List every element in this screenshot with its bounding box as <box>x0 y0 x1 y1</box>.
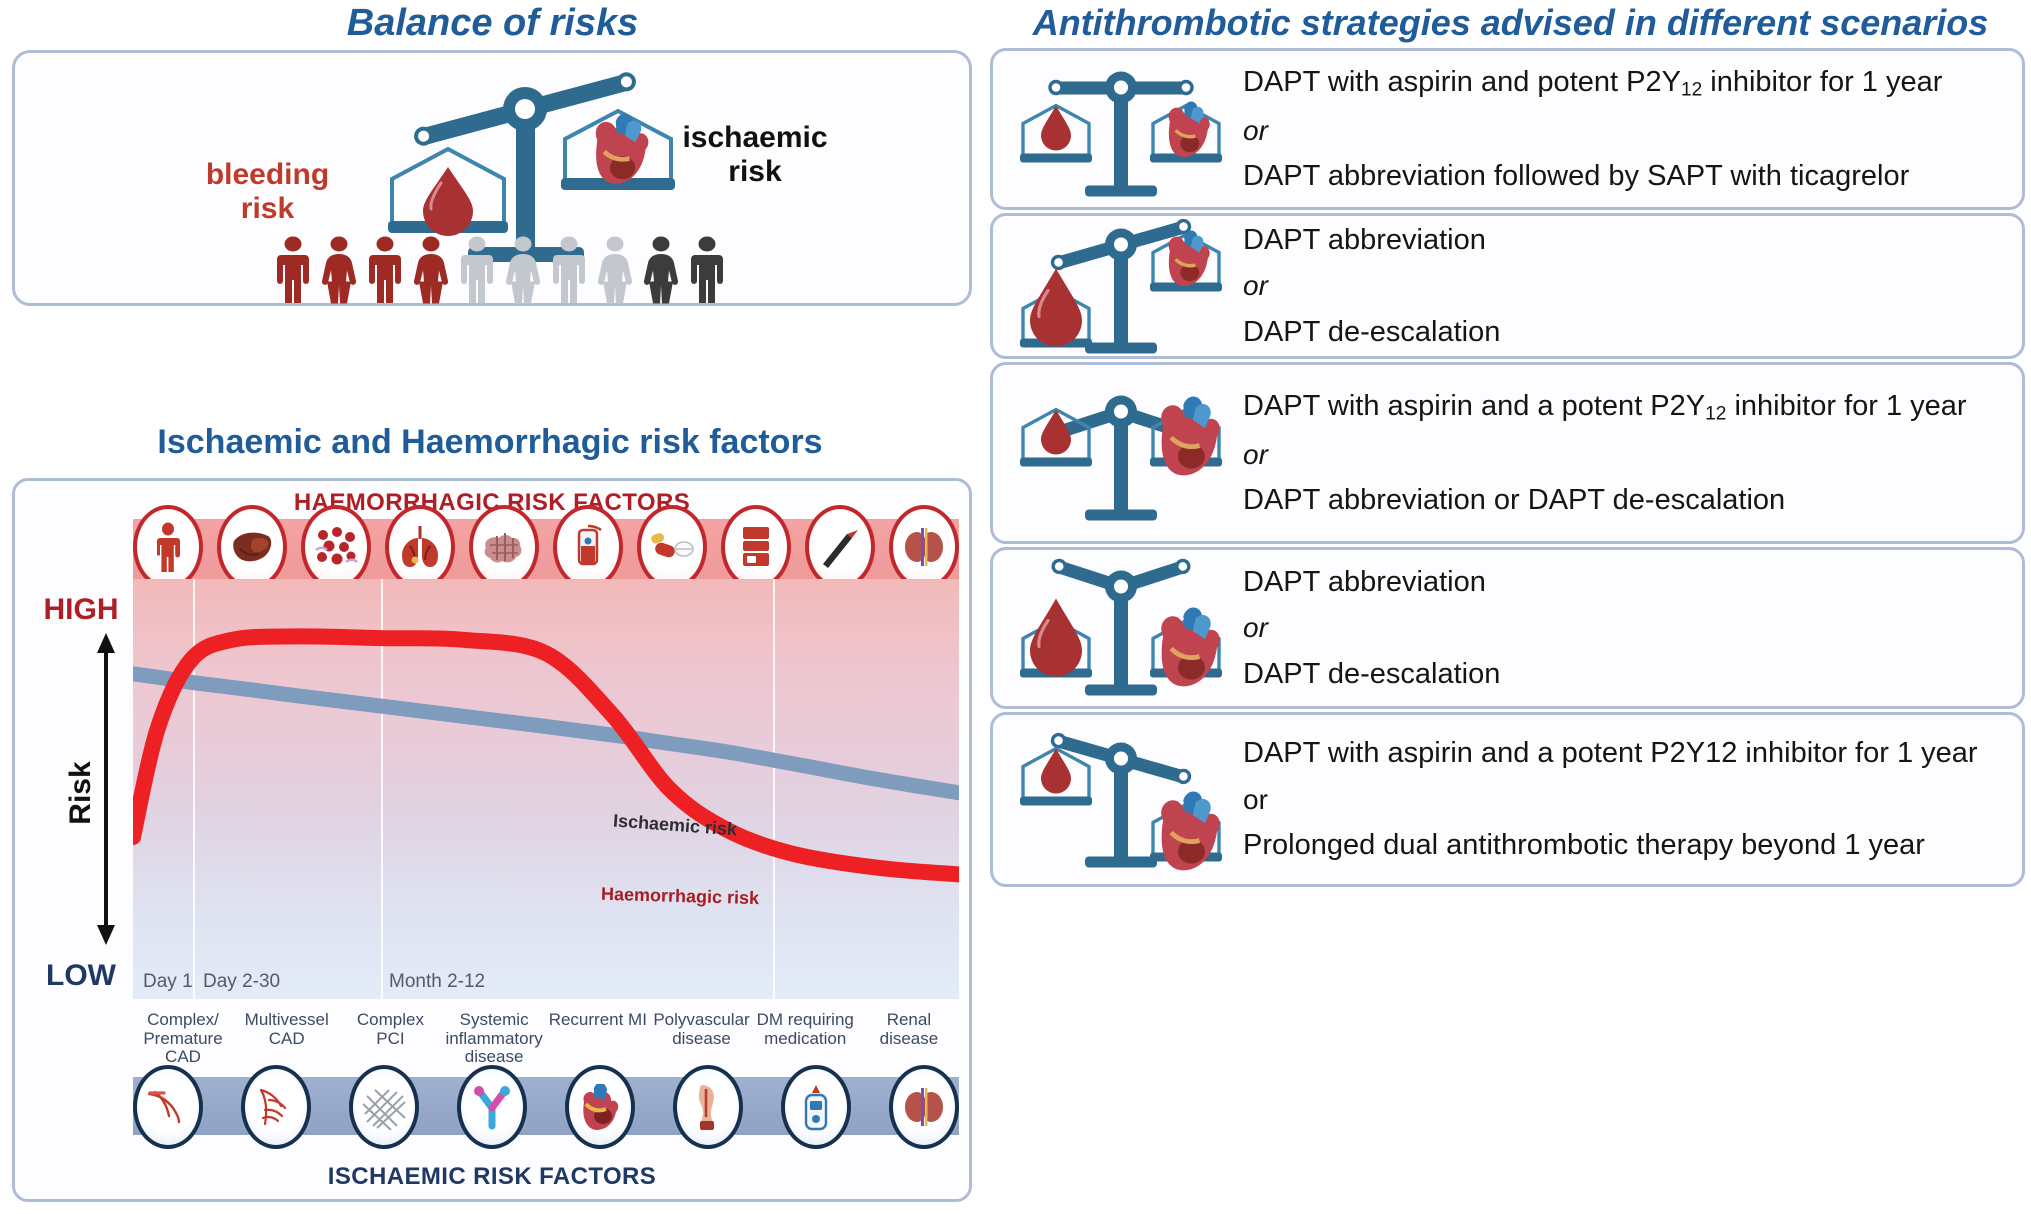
scenario-strategy-line: DAPT abbreviation <box>1243 224 2006 256</box>
scenario-strategy-line: DAPT with aspirin and potent P2Y12 inhib… <box>1243 66 2006 101</box>
pills-icon <box>637 505 707 589</box>
scenario-or-separator: or <box>1243 115 2006 146</box>
scenario-card-5[interactable]: DAPT with aspirin and a potent P2Y12 inh… <box>990 712 2025 887</box>
bleeding-risk-label: bleeding risk <box>185 158 350 225</box>
infographic-root: Balance of risks Antithrombotic strategi… <box>0 0 2031 1214</box>
pan-ischaemic <box>1150 101 1222 162</box>
pan-bleeding <box>388 149 508 236</box>
person-icon-female <box>502 235 544 305</box>
curve-label-haemorrhagic: Haemorrhagic risk <box>601 884 760 909</box>
risk-curves <box>133 579 959 999</box>
pan-ischaemic <box>1150 791 1222 870</box>
pan-bleeding <box>1020 106 1092 163</box>
stent-icon <box>349 1065 419 1149</box>
x-tick-day-2-30: Day 2-30 <box>203 971 280 993</box>
pan-bleeding <box>1020 410 1092 467</box>
risk-plot-area: Ischaemic risk Haemorrhagic risk Day 1 D… <box>133 579 959 999</box>
axis-label-high: HIGH <box>29 593 133 627</box>
person-icon-male <box>686 235 728 305</box>
scenario-or-separator: or <box>1243 612 2006 643</box>
axis-label-low: LOW <box>29 959 133 993</box>
balance-scale-icon <box>1013 376 1228 526</box>
scenario-card-2[interactable]: DAPT abbreviationorDAPT de-escalation <box>990 213 2025 359</box>
person-icon-female <box>318 235 360 305</box>
pan-bleeding <box>1020 748 1092 805</box>
scenario-strategy-line: DAPT de-escalation <box>1243 658 2006 690</box>
coronary-tree-icon <box>241 1065 311 1149</box>
scenario-or-separator: or <box>1243 270 2006 301</box>
ischaemic-risk-label: ischaemic risk <box>655 121 855 188</box>
scenario-strategy-line: DAPT with aspirin and a potent P2Y12 inh… <box>1243 737 2006 769</box>
kidney-icon <box>889 1065 959 1149</box>
scenario-card-3[interactable]: DAPT with aspirin and a potent P2Y12 inh… <box>990 362 2025 544</box>
lungs-icon <box>385 505 455 589</box>
scenario-text-block: DAPT with aspirin and potent P2Y12 inhib… <box>1243 51 2006 207</box>
scalpel-icon <box>805 505 875 589</box>
scenario-text-block: DAPT with aspirin and a potent P2Y12 inh… <box>1243 715 2006 884</box>
antibody-icon <box>457 1065 527 1149</box>
scenario-text-block: DAPT abbreviationorDAPT de-escalation <box>1243 550 2006 706</box>
scenario-balance-scale <box>1013 551 1228 706</box>
population-pictogram <box>260 235 740 305</box>
balance-scale-icon <box>1013 52 1228 202</box>
person-icon-male <box>272 235 314 305</box>
risk-chart-card: HAEMORRHAGIC RISK FACTORS AgeLiver disea… <box>12 478 972 1202</box>
axis-arrow-icon <box>95 633 117 945</box>
person-icon-female <box>640 235 682 305</box>
page-title-risk-factors: Ischaemic and Haemorrhagic risk factors <box>10 423 970 462</box>
x-tick-day-1: Day 1 <box>143 971 193 993</box>
coronary-artery-icon <box>133 1065 203 1149</box>
x-tick-month-2-12: Month 2-12 <box>389 971 485 993</box>
scenario-text-block: DAPT with aspirin and a potent P2Y12 inh… <box>1243 365 2006 541</box>
scenario-card-4[interactable]: DAPT abbreviationorDAPT de-escalation <box>990 547 2025 709</box>
person-icon-female <box>410 235 452 305</box>
blood-bag-icon <box>553 505 623 589</box>
scenario-balance-scale <box>1013 376 1228 531</box>
scenario-text-block: DAPT abbreviationorDAPT de-escalation <box>1243 216 2006 356</box>
balance-scale-icon <box>1013 722 1228 872</box>
scenario-or-separator: or <box>1243 439 2006 470</box>
scenario-or-separator: or <box>1243 784 2006 815</box>
person-icon-male <box>364 235 406 305</box>
scenario-strategy-line: DAPT abbreviation <box>1243 566 2006 598</box>
pan-ischaemic <box>1150 608 1222 687</box>
risk-axis: HIGH LOW Risk <box>29 593 133 993</box>
person-icon-male <box>456 235 498 305</box>
pan-ischaemic <box>1150 397 1222 476</box>
scenario-strategy-line: DAPT de-escalation <box>1243 316 2006 348</box>
scenario-strategy-line: Prolonged dual antithrombotic therapy be… <box>1243 829 2006 861</box>
body-icon <box>133 505 203 589</box>
blood-cells-icon <box>301 505 371 589</box>
liver-icon <box>217 505 287 589</box>
page-title-antithrombotic-strategies: Antithrombotic strategies advised in dif… <box>990 2 2031 44</box>
kidney-icon <box>889 505 959 589</box>
pan-bleeding <box>1020 269 1092 348</box>
peripheral-artery-icon <box>673 1065 743 1149</box>
scenario-strategy-line: DAPT abbreviation or DAPT de-escalation <box>1243 484 2006 516</box>
person-icon-female <box>594 235 636 305</box>
scenario-balance-scale <box>1013 209 1228 364</box>
brain-icon <box>469 505 539 589</box>
scenario-card-1[interactable]: DAPT with aspirin and potent P2Y12 inhib… <box>990 48 2025 210</box>
page-title-balance-of-risks: Balance of risks <box>0 2 985 45</box>
glucometer-icon <box>781 1065 851 1149</box>
pan-bleeding <box>1020 599 1092 678</box>
heart-infarct-icon <box>565 1065 635 1149</box>
scenario-strategy-line: DAPT abbreviation followed by SAPT with … <box>1243 160 2006 192</box>
balance-scale-icon <box>1013 551 1228 701</box>
balance-of-risks-card: bleeding risk ischaemic risk <box>12 50 972 306</box>
scenario-balance-scale <box>1013 722 1228 877</box>
scenario-balance-scale <box>1013 52 1228 207</box>
medicine-box-icon <box>721 505 791 589</box>
scenario-strategy-line: DAPT with aspirin and a potent P2Y12 inh… <box>1243 390 2006 425</box>
balance-scale-icon <box>1013 209 1228 359</box>
person-icon-male <box>548 235 590 305</box>
ischaemic-risk-factors-title: ISCHAEMIC RISK FACTORS <box>15 1163 969 1191</box>
axis-label-risk: Risk <box>64 761 98 824</box>
ischaemic-icon-row <box>133 1061 959 1153</box>
